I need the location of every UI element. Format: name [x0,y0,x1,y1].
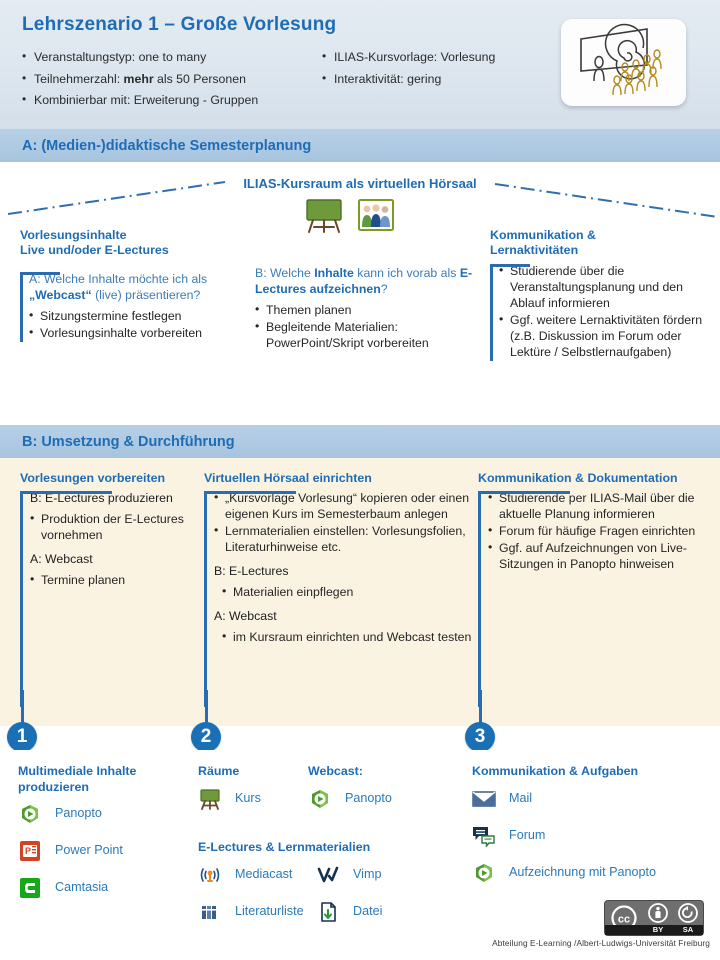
block-label: B: E-Lectures [214,564,472,580]
lecture-hall-icon [561,19,686,106]
tool-label: Panopto [55,806,102,821]
bullet-icon: • [22,50,34,64]
header-facts-right: • ILIAS-Kursvorlage: Vorlesung • Interak… [322,50,562,93]
step-badge-2: 2 [191,722,221,752]
cc-by-label: BY [643,925,673,935]
list-item: Ggf. auf Aufzeichnungen von Live-Sitzung… [488,541,716,573]
fact-item: • Interaktivität: gering [322,72,562,86]
tool-item[interactable]: Mediacast [198,863,316,887]
tool-label: Aufzeichnung mit Panopto [509,865,656,880]
cc-sa-label: SA [673,925,703,935]
share-alike-icon [678,901,698,925]
mail-icon [472,787,496,811]
fact-text: Interaktivität: gering [334,72,441,86]
b-column-hoersaal: Virtuellen Hörsaal einrichten „Kursvorla… [204,471,472,701]
fact-item: • ILIAS-Kursvorlage: Vorlesung [322,50,562,64]
list-item: Studierende per ILIAS-Mail über die aktu… [488,491,716,523]
block-list: Termine planen [30,573,195,589]
tool-item[interactable]: Camtasia [18,876,188,900]
cc-by-cell: BY [643,901,673,935]
tool-item[interactable]: Vimp [316,863,426,887]
block-list: Produktion der E-Lectures vornehmen [30,512,195,544]
fact-text: Veranstaltungstyp: one to many [34,50,206,64]
step-badge-1: 1 [7,722,37,752]
bracket-container: Studierende über die Veranstaltungsplanu… [490,264,705,361]
qa-block-webcast: A: Welche Inhalte möchte ich als „Webcas… [20,266,250,343]
group-heading: Kommunikation & Aufgaben [472,764,702,780]
footer-credit: Abteilung E-Learning /Albert-Ludwigs-Uni… [440,938,710,948]
section-a-icon-pair [301,198,401,234]
fact-text: Teilnehmerzahl: mehr als 50 Personen [34,72,246,86]
list-item: Lernmaterialien einstellen: Vorlesungsfo… [214,524,472,556]
column-heading-line1: Vorlesungsinhalte [20,228,235,243]
tool-label: Datei [353,904,382,919]
list-item: Begleitende Materialien: PowerPoint/Skri… [255,320,473,352]
tool-label: Camtasia [55,880,108,895]
column-kommunikation: Kommunikation & Lernaktivitäten Studiere… [490,228,705,362]
header-band: Lehrszenario 1 – Große Vorlesung • Veran… [0,0,720,129]
fact-item: • Teilnehmerzahl: mehr als 50 Personen [22,72,322,86]
tool-label: Literaturliste [235,904,304,919]
list-item: Themen planen [255,303,473,319]
bullet-icon: • [322,72,334,86]
list-item: Forum für häufige Fragen einrichten [488,524,716,540]
powerpoint-icon: P [18,839,42,863]
tool-item[interactable]: Panopto [308,787,438,811]
kommunikation-list: Studierende über die Veranstaltungsplanu… [499,264,705,361]
column-heading: Kommunikation & Lernaktivitäten [490,228,705,258]
bullet-icon: • [22,72,34,86]
cc-tag-spacer [605,925,643,935]
header-facts-left: • Veranstaltungstyp: one to many • Teiln… [22,50,322,115]
tool-group-electures: E-Lectures & Lernmaterialien Mediacas [198,840,438,937]
question-text: A: Welche Inhalte möchte ich als „Webcas… [29,272,250,304]
qa-block-electures: B: Welche Inhalte kann ich vorab als E-L… [255,266,473,353]
panopto-icon [308,787,332,811]
bracket-container: „Kursvorlage Vorlesung“ kopieren oder ei… [204,491,472,701]
tool-group-webcast: Webcast: Panopto [308,764,438,824]
tool-label: Mail [509,791,532,806]
group-heading: Webcast: [308,764,438,780]
question-text: B: Welche Inhalte kann ich vorab als E-L… [255,266,473,298]
tool-label: Power Point [55,843,123,858]
column-heading-line1: Kommunikation & [490,228,705,243]
b-column-kommunikation: Kommunikation & Dokumentation Studierend… [478,471,716,701]
bullet-icon: • [22,93,34,107]
qa-a-list: Sitzungstermine festlegen Vorlesungsinha… [29,309,250,342]
tool-item[interactable]: Kurs [198,787,308,811]
tool-item[interactable]: Literaturliste [198,900,316,924]
tool-group-kommunikation: Kommunikation & Aufgaben Mail [472,764,702,898]
bracket-container: Studierende per ILIAS-Mail über die aktu… [478,491,716,701]
section-a-banner: A: (Medien-)didaktische Semesterplanung [0,129,720,162]
group-heading: E-Lectures & Lernmaterialien [198,840,438,856]
block-label: A: Webcast [30,552,195,568]
list-item: „Kursvorlage Vorlesung“ kopieren oder ei… [214,491,472,523]
group-heading: Räume [198,764,308,780]
fact-item: • Veranstaltungstyp: one to many [22,50,322,64]
tool-label: Panopto [345,791,392,806]
column-heading: Vorlesungen vorbereiten [20,471,195,486]
section-a-title: A: (Medien-)didaktische Semesterplanung [22,138,311,154]
tool-item[interactable]: P Power Point [18,839,188,863]
blackboard-icon [198,787,222,811]
bullet-icon: • [322,50,334,64]
bracket-container: A: Welche Inhalte möchte ich als „Webcas… [20,272,250,342]
literature-list-icon [198,900,222,924]
forum-icon [472,824,496,848]
cc-license-badge[interactable]: cc BY [604,900,704,936]
section-a-body: ILIAS-Kursraum als virtuellen Hörsaal [0,162,720,425]
file-download-icon [316,900,340,924]
block-list: Studierende per ILIAS-Mail über die aktu… [488,491,716,573]
list-item: Vorlesungsinhalte vorbereiten [29,326,250,342]
block-list: im Kursraum einrichten und Webcast teste… [214,630,472,646]
step-badge-3: 3 [465,722,495,752]
mediacast-icon [198,863,222,887]
vimp-icon [316,863,340,887]
fact-text: ILIAS-Kursvorlage: Vorlesung [334,50,495,64]
tool-item[interactable]: Forum [472,824,702,848]
column-heading: Vorlesungsinhalte Live und/oder E-Lectur… [20,228,235,258]
tool-label: Mediacast [235,867,292,882]
person-icon [648,901,668,925]
page-title: Lehrszenario 1 – Große Vorlesung [22,14,336,36]
fact-item: • Kombinierbar mit: Erweiterung - Gruppe… [22,93,322,107]
tool-group-multimedia: Multimediale Inhalte produzieren Panopto [18,764,188,913]
panopto-icon [18,802,42,826]
tool-item[interactable]: Datei [316,900,426,924]
list-item: Sitzungstermine festlegen [29,309,250,325]
tool-item[interactable]: Aufzeichnung mit Panopto [472,861,702,885]
list-item: im Kursraum einrichten und Webcast teste… [222,630,472,646]
tool-label: Vimp [353,867,381,882]
list-item: Materialien einpflegen [222,585,472,601]
tool-label: Kurs [235,791,261,806]
column-heading-line2: Live und/oder E-Lectures [20,243,235,258]
block-label: A: Webcast [214,609,472,625]
section-b-body: Vorlesungen vorbereiten B: E-Lectures pr… [0,458,720,726]
b-column-vorlesungen: Vorlesungen vorbereiten B: E-Lectures pr… [20,471,195,701]
panopto-icon [472,861,496,885]
block-list: Materialien einpflegen [214,585,472,601]
cc-sa-cell: SA [673,901,703,935]
svg-text:P: P [25,846,31,856]
column-heading: Kommunikation & Dokumentation [478,471,716,486]
tool-item[interactable]: Panopto [18,802,188,826]
list-item: Ggf. weitere Lernaktivitäten fördern (z.… [499,313,705,361]
diagram-page: Lehrszenario 1 – Große Vorlesung • Veran… [0,0,720,960]
group-heading: Multimediale Inhalte produzieren [18,764,188,795]
column-heading: Virtuellen Hörsaal einrichten [204,471,472,486]
cc-terms: BY SA [643,901,703,935]
bracket-container: B: E-Lectures produzieren Produktion der… [20,491,195,701]
list-item: Studierende über die Veranstaltungsplanu… [499,264,705,312]
list-item: Termine planen [30,573,195,589]
camtasia-icon [18,876,42,900]
tool-group-raeume: Räume Kurs [198,764,308,824]
section-b-title: B: Umsetzung & Durchführung [22,434,235,450]
fact-text: Kombinierbar mit: Erweiterung - Gruppen [34,93,258,107]
tool-label: Forum [509,828,545,843]
block-label: B: E-Lectures produzieren [30,491,195,507]
column-vorlesungsinhalte: Vorlesungsinhalte Live und/oder E-Lectur… [20,228,235,258]
svg-text:cc: cc [618,914,630,926]
tool-item[interactable]: Mail [472,787,702,811]
column-heading-line2: Lernaktivitäten [490,243,705,258]
list-item: Produktion der E-Lectures vornehmen [30,512,195,544]
qa-b-list: Themen planen Begleitende Materialien: P… [255,303,473,352]
block-list: „Kursvorlage Vorlesung“ kopieren oder ei… [214,491,472,556]
section-b-banner: B: Umsetzung & Durchführung [0,425,720,458]
